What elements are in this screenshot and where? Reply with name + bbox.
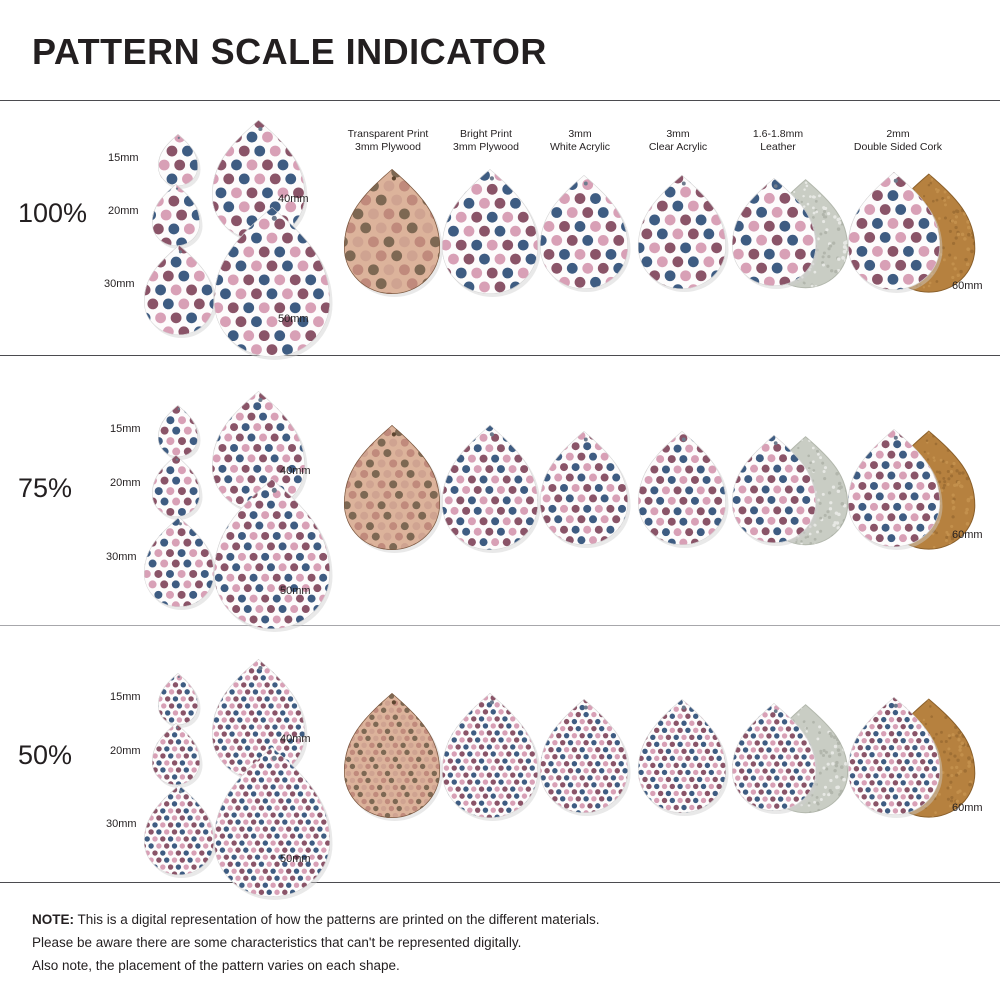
material-drop-100-white-acrylic [538, 173, 636, 295]
note-line-2: Please be aware there are some character… [32, 931, 832, 954]
divider-note [0, 882, 1000, 883]
scale-label-50: 50% [18, 740, 72, 770]
material-drop-75-clear-acrylic [636, 429, 734, 551]
material-drop-75-bright-print-plywood [440, 423, 546, 556]
material-drop-100-bright-print-plywood [440, 167, 546, 300]
material-drop-100-leather [730, 176, 855, 292]
material-drop-50-bright-print-plywood [440, 691, 546, 824]
size-label-100-50mm: 50mm [278, 313, 309, 326]
size-label-100-60mm: 60mm [952, 280, 983, 293]
size-label-100-20mm: 20mm [108, 205, 139, 218]
size-drop-75-20mm [150, 453, 208, 523]
size-drop-100-20mm [150, 182, 208, 252]
material-drop-100-cork [846, 170, 983, 296]
size-drop-50-50mm [212, 745, 338, 903]
material-drop-50-transparent-print-plywood [342, 691, 448, 824]
material-drop-50-clear-acrylic [636, 697, 734, 819]
size-label-75-30mm: 30mm [106, 551, 137, 564]
size-label-100-30mm: 30mm [104, 278, 135, 291]
size-label-50-30mm: 30mm [106, 818, 137, 831]
material-drop-50-leather [730, 701, 855, 817]
scale-row-50: 50%15mm20mm30mm40mm50mm60mm [0, 625, 1000, 882]
size-label-50-60mm: 60mm [952, 802, 983, 815]
note-line-1: NOTE: This is a digital representation o… [32, 908, 832, 931]
page-title: PATTERN SCALE INDICATOR [32, 30, 547, 74]
material-drop-75-white-acrylic [538, 429, 636, 551]
size-label-75-50mm: 50mm [280, 585, 311, 598]
size-label-75-60mm: 60mm [952, 529, 983, 542]
material-drop-75-leather [730, 433, 855, 549]
size-drop-50-20mm [150, 721, 208, 791]
scale-row-75: 75%15mm20mm30mm40mm50mm60mm [0, 355, 1000, 625]
size-label-100-15mm: 15mm [108, 152, 139, 165]
scale-label-75: 75% [18, 473, 72, 503]
size-label-75-15mm: 15mm [110, 423, 141, 436]
scale-row-100: 100%15mm20mm30mm40mm50mm60mm [0, 100, 1000, 355]
note-text-1: This is a digital representation of how … [74, 912, 600, 927]
material-drop-50-white-acrylic [538, 697, 636, 819]
note-line-3: Also note, the placement of the pattern … [32, 954, 832, 977]
size-drop-50-30mm [142, 783, 222, 881]
size-label-50-20mm: 20mm [110, 745, 141, 758]
size-drop-100-50mm [212, 205, 338, 363]
material-drop-100-clear-acrylic [636, 173, 734, 295]
size-drop-100-30mm [142, 243, 222, 341]
size-label-75-20mm: 20mm [110, 477, 141, 490]
note-block: NOTE: This is a digital representation o… [32, 908, 832, 977]
material-drop-100-transparent-print-plywood [342, 167, 448, 300]
size-drop-75-30mm [142, 515, 222, 613]
size-drop-75-50mm [212, 477, 338, 635]
size-label-50-15mm: 15mm [110, 691, 141, 704]
material-drop-75-transparent-print-plywood [342, 423, 448, 556]
scale-label-100: 100% [18, 198, 87, 228]
note-label: NOTE: [32, 912, 74, 927]
size-label-50-50mm: 50mm [280, 853, 311, 866]
